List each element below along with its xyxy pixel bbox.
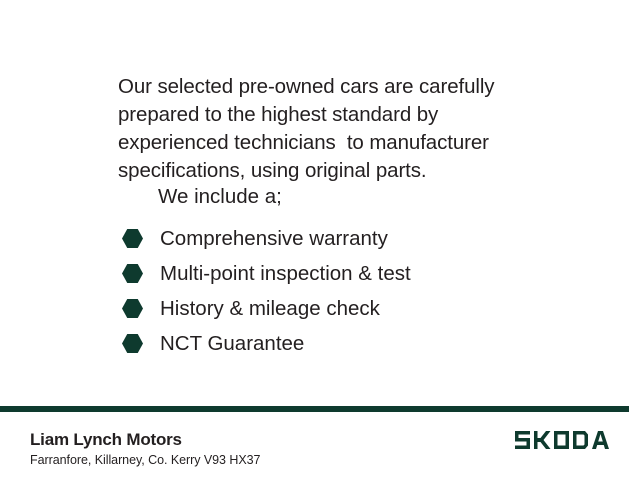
- feature-label: Multi-point inspection & test: [160, 260, 411, 288]
- dealer-address: Farranfore, Killarney, Co. Kerry V93 HX3…: [30, 453, 260, 467]
- feature-label: NCT Guarantee: [160, 330, 304, 358]
- hexagon-bullet-icon: [122, 334, 143, 353]
- feature-label: Comprehensive warranty: [160, 225, 388, 253]
- hexagon-bullet-icon: [122, 299, 143, 318]
- promo-card: Our selected pre-owned cars are carefull…: [0, 0, 640, 480]
- headline-paragraph: Our selected pre-owned cars are carefull…: [118, 73, 548, 185]
- skoda-wordmark-icon: [514, 429, 609, 451]
- hexagon-bullet-icon: [122, 229, 143, 248]
- list-item: Comprehensive warranty: [122, 221, 602, 256]
- list-item: History & mileage check: [122, 291, 602, 326]
- feature-list: Comprehensive warranty Multi-point inspe…: [122, 221, 602, 361]
- include-intro-text: We include a;: [158, 183, 282, 211]
- hexagon-bullet-icon: [122, 264, 143, 283]
- feature-label: History & mileage check: [160, 295, 380, 323]
- list-item: Multi-point inspection & test: [122, 256, 602, 291]
- list-item: NCT Guarantee: [122, 326, 602, 361]
- dealer-name: Liam Lynch Motors: [30, 430, 182, 450]
